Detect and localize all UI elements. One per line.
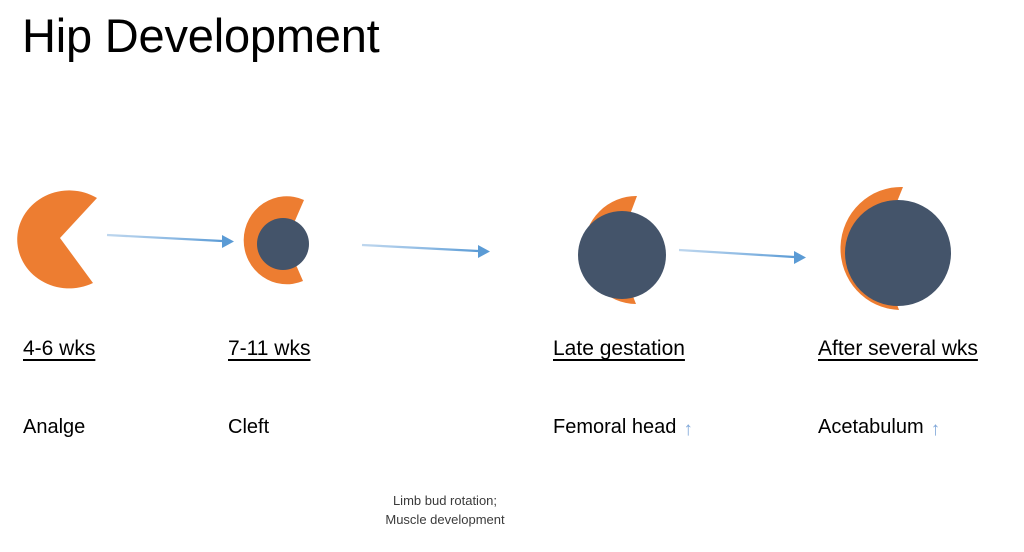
stage-1-acetabulum-anlage [17, 190, 97, 288]
stage-3-shape-group [578, 196, 666, 304]
stage-3-up-arrow-icon: ↑ [683, 420, 693, 439]
stage-1-label: 4-6 wks [23, 337, 95, 361]
stage-4-up-arrow-icon: ↑ [931, 420, 941, 439]
stage-2-sublabel-text: Cleft [228, 416, 269, 439]
stage-2-shape-group [244, 196, 309, 284]
stage-2-label: 7-11 wks [228, 337, 310, 361]
stage-3-femoral-head [578, 211, 666, 299]
stage-4-label: After several wks [818, 337, 978, 361]
arrow-1 [107, 235, 234, 248]
arrow-1-head [222, 235, 234, 248]
stage-2-femoral-head [257, 218, 309, 270]
stage-4-femoral-head [845, 200, 951, 306]
stage-4-sublabel: Acetabulum ↑ [818, 416, 940, 439]
stage-1-shape-group [17, 190, 97, 288]
stage-4-shape-group [840, 187, 951, 310]
arrow-2 [362, 245, 490, 258]
caption-line-2: Muscle development [350, 511, 540, 530]
diagram-svg [0, 0, 1024, 552]
stage-1-sublabel-text: Analge [23, 416, 85, 439]
process-caption: Limb bud rotation; Muscle development [350, 492, 540, 530]
stage-1-sublabel: Analge [23, 416, 85, 439]
stage-3-sublabel: Femoral head ↑ [553, 416, 693, 439]
stage-3-label: Late gestation [553, 337, 685, 361]
arrow-2-head [478, 245, 490, 258]
stage-2-sublabel: Cleft [228, 416, 269, 439]
arrow-3-head [794, 251, 806, 264]
arrow-1-shaft [107, 235, 222, 241]
stage-3-sublabel-text: Femoral head [553, 416, 676, 439]
arrow-3 [679, 250, 806, 264]
arrow-3-shaft [679, 250, 794, 257]
hip-development-diagram [0, 0, 1024, 552]
caption-line-1: Limb bud rotation; [350, 492, 540, 511]
arrow-2-shaft [362, 245, 478, 251]
stage-4-sublabel-text: Acetabulum [818, 416, 924, 439]
